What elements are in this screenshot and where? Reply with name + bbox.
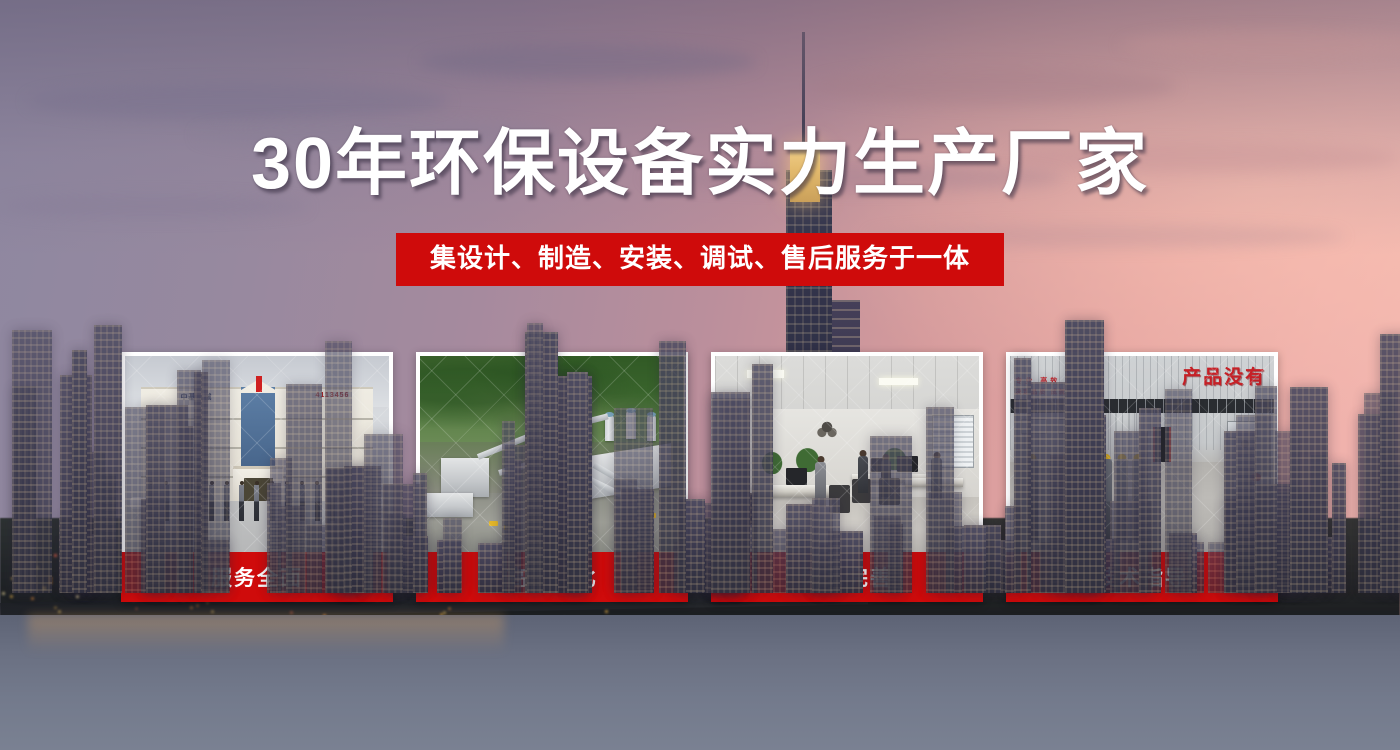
plant-building <box>441 458 489 497</box>
building <box>1332 463 1346 593</box>
building <box>177 370 202 592</box>
building <box>443 518 462 592</box>
laptop-screen <box>786 468 807 486</box>
building <box>325 341 353 592</box>
building <box>752 364 773 592</box>
staff-member <box>239 481 244 520</box>
street-light <box>10 595 13 598</box>
building <box>614 408 653 593</box>
building <box>659 341 686 593</box>
street-light <box>76 595 79 598</box>
building <box>567 372 589 592</box>
building <box>502 421 515 592</box>
factory-sign-text: 产品没有 <box>1182 362 1266 389</box>
building <box>1255 386 1278 593</box>
building <box>870 436 911 593</box>
building <box>1139 408 1161 593</box>
promo-banner: 30年环保设备实力生产厂家 集设计、制造、安装、调试、售后服务于一体 <box>0 0 1400 750</box>
plant-building <box>425 493 473 517</box>
building <box>12 330 52 592</box>
building <box>413 473 427 592</box>
river-reflection <box>28 615 504 653</box>
building <box>527 323 543 592</box>
building <box>812 498 840 593</box>
street-light <box>54 554 57 557</box>
subtitle-text: 集设计、制造、安装、调试、售后服务于一体 <box>430 243 970 274</box>
building <box>1065 320 1104 593</box>
building <box>1014 358 1031 593</box>
street-light <box>605 610 608 613</box>
building <box>286 384 322 592</box>
flag-icon <box>256 376 262 392</box>
building <box>1027 382 1066 592</box>
building <box>202 360 230 593</box>
building <box>364 434 403 593</box>
street-light <box>31 597 34 600</box>
page-title: 30年环保设备实力生产厂家 <box>0 128 1400 200</box>
building <box>94 325 123 593</box>
building <box>1165 389 1192 593</box>
ceiling-light <box>879 378 919 386</box>
wall-decal <box>810 417 844 442</box>
office-worker <box>858 450 868 493</box>
street-light <box>2 592 5 595</box>
building <box>926 407 953 593</box>
staff-member <box>254 481 259 520</box>
building <box>1290 387 1327 593</box>
loader-vehicle <box>489 521 498 526</box>
subtitle-banner: 集设计、制造、安装、调试、售后服务于一体 <box>396 233 1004 286</box>
building <box>72 350 87 592</box>
building <box>1380 334 1400 592</box>
building <box>711 392 750 592</box>
